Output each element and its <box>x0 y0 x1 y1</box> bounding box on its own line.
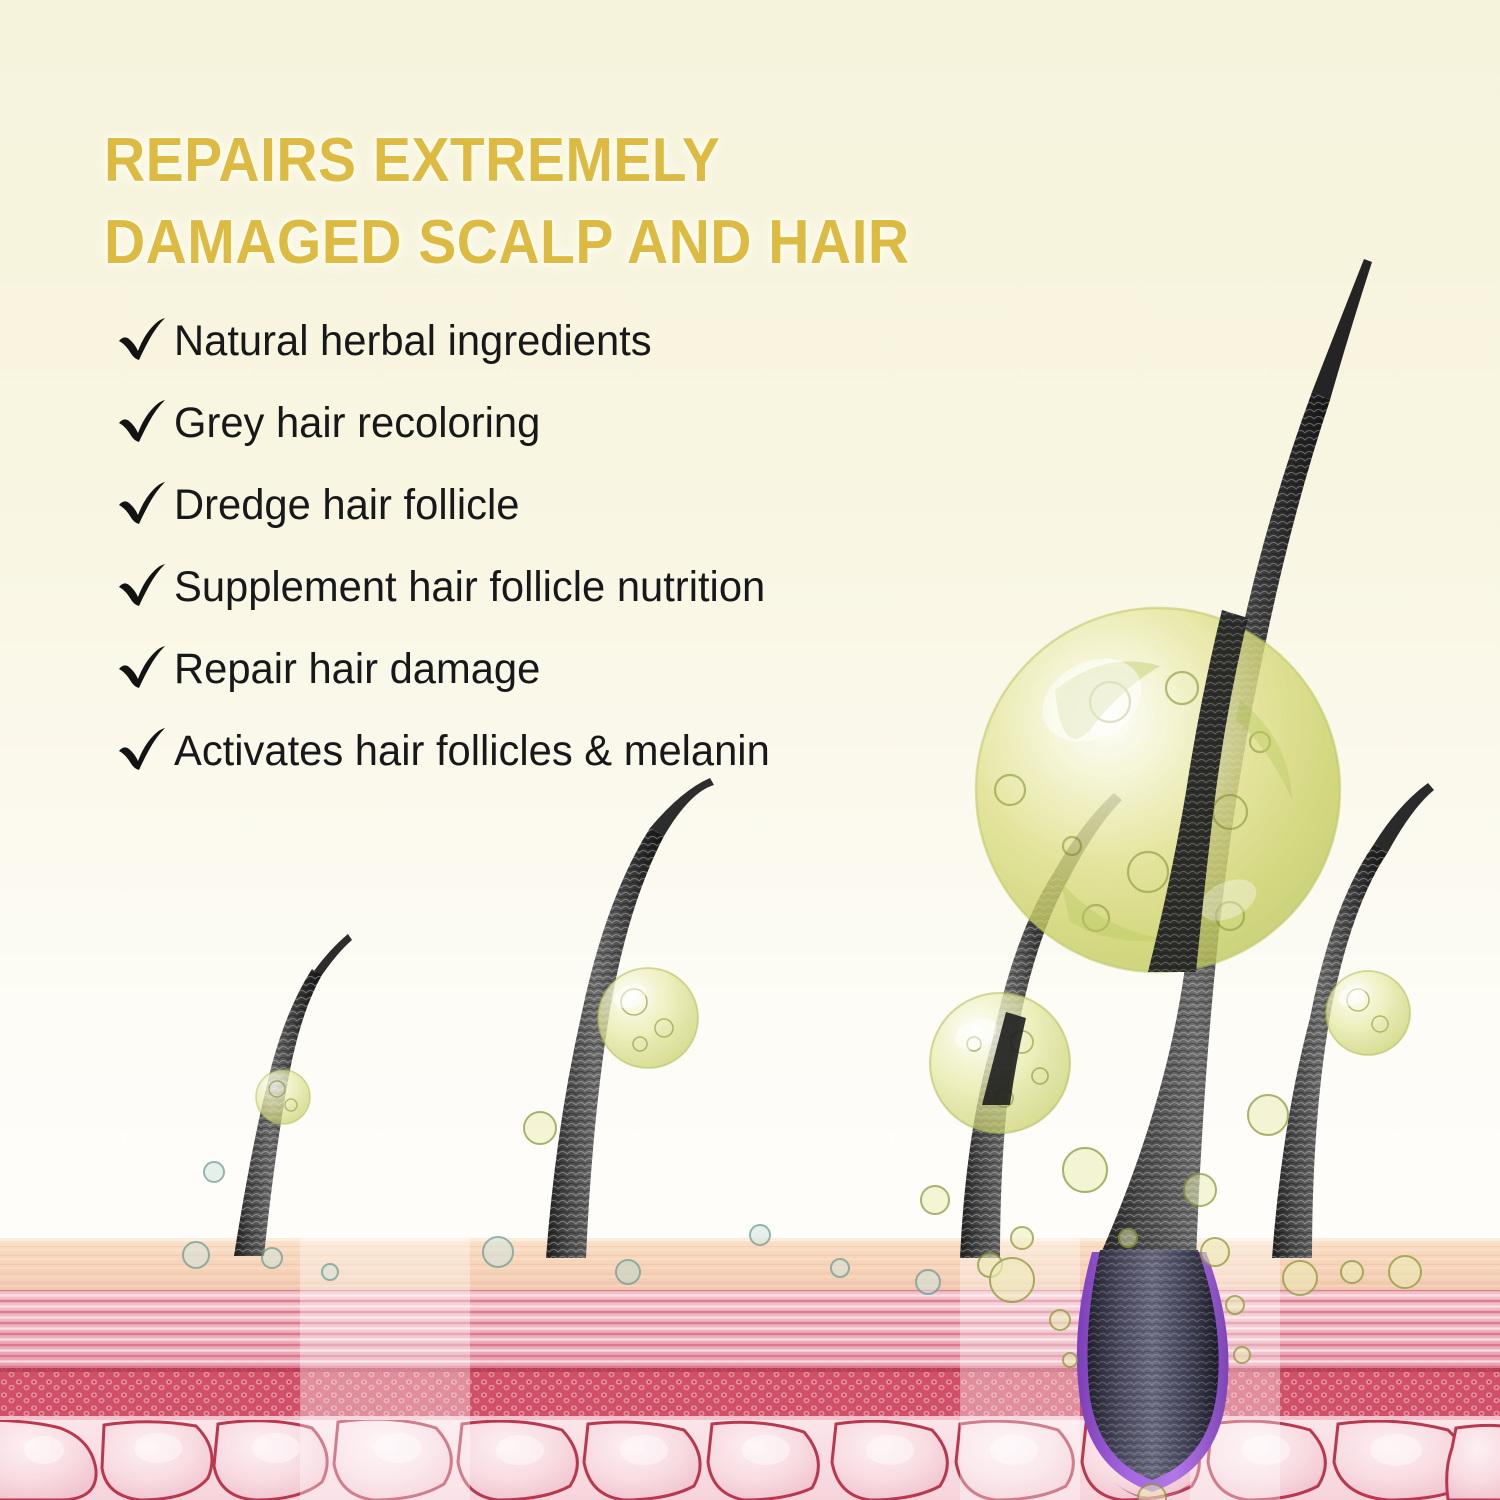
benefit-label: Supplement hair follicle nutrition <box>174 563 765 612</box>
benefit-item-3: Supplement hair follicle nutrition <box>116 546 788 628</box>
benefit-label: Activates hair follicles & melanin <box>174 727 770 776</box>
benefit-item-4: Repair hair damage <box>116 628 788 710</box>
benefit-item-0: Natural herbal ingredients <box>116 300 788 382</box>
product-benefits-infographic: REPAIRS EXTREMELY DAMAGED SCALP AND HAIR… <box>0 0 1500 1500</box>
benefit-label: Repair hair damage <box>174 645 540 694</box>
headline-line-1: REPAIRS EXTREMELY <box>104 125 720 196</box>
benefit-item-5: Activates hair follicles & melanin <box>116 710 788 792</box>
benefit-item-1: Grey hair recoloring <box>116 382 788 464</box>
check-mark-icon <box>116 561 168 613</box>
benefit-label: Grey hair recoloring <box>174 399 540 448</box>
check-mark-icon <box>116 643 168 695</box>
copy-block: REPAIRS EXTREMELY DAMAGED SCALP AND HAIR… <box>0 0 1500 1500</box>
check-mark-icon <box>116 479 168 531</box>
headline-line-2: DAMAGED SCALP AND HAIR <box>104 207 910 278</box>
benefit-item-2: Dredge hair follicle <box>116 464 788 546</box>
benefit-label: Natural herbal ingredients <box>174 317 652 366</box>
check-mark-icon <box>116 725 168 777</box>
benefits-list: Natural herbal ingredients Grey hair rec… <box>116 300 788 792</box>
check-mark-icon <box>116 315 168 367</box>
benefit-label: Dredge hair follicle <box>174 481 519 530</box>
check-mark-icon <box>116 397 168 449</box>
